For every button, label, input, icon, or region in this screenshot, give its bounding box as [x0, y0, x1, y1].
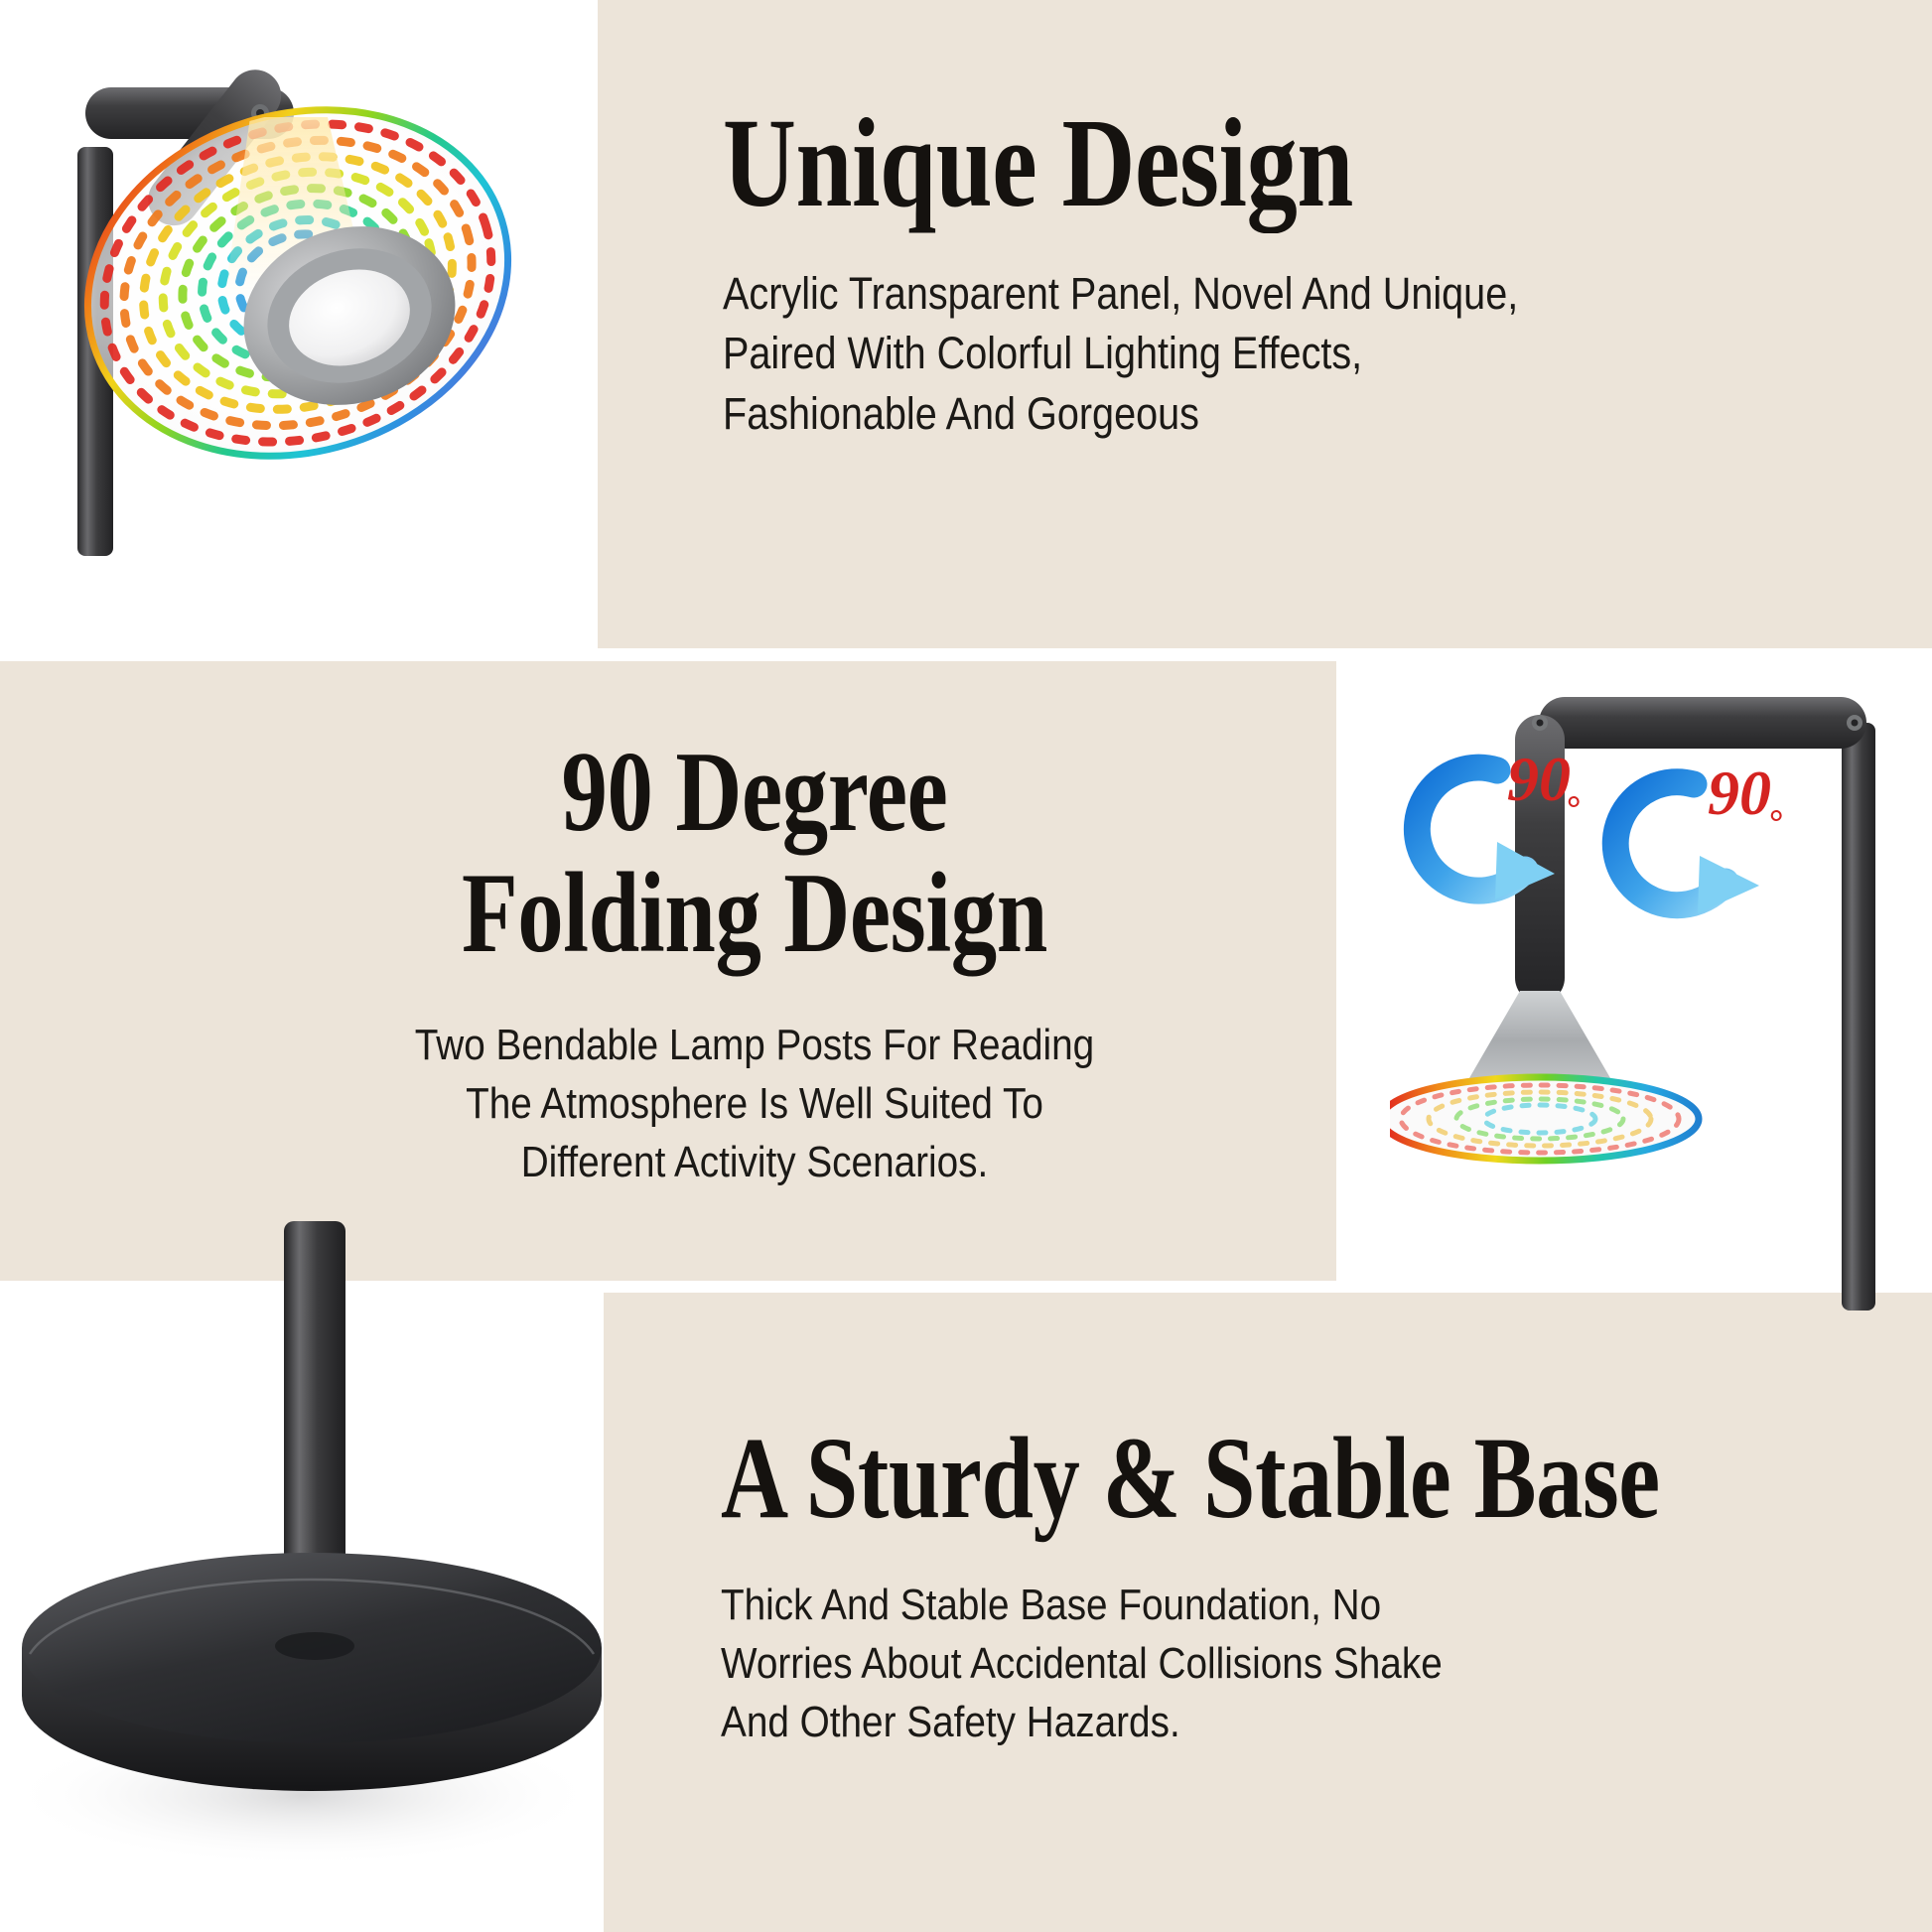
stable-base-body: Thick And Stable Base Foundation, No Wor… — [721, 1577, 1760, 1752]
rgb-base-disc — [1390, 1077, 1699, 1161]
folding-design-text-block: 90 Degree Folding Design Two Bendable La… — [328, 735, 1181, 1192]
folding-design-heading-line-2: Folding Design — [413, 856, 1096, 971]
unique-design-body: Acrylic Transparent Panel, Novel And Uni… — [723, 264, 1753, 444]
folding-diagram-image: 90 ° 90 ° — [1390, 675, 1932, 1311]
body-line: Paired With Colorful Lighting Effects, — [723, 328, 1362, 378]
folding-design-heading-line-1: 90 Degree — [413, 735, 1096, 850]
body-line: Thick And Stable Base Foundation, No — [721, 1581, 1381, 1629]
infographic-canvas: Unique Design Acrylic Transparent Panel,… — [0, 0, 1932, 1932]
right-pole — [1842, 723, 1875, 1311]
unique-design-text-block: Unique Design Acrylic Transparent Panel,… — [723, 99, 1894, 444]
stable-base-heading: A Sturdy & Stable Base — [721, 1420, 1666, 1537]
body-line: Different Activity Scenarios. — [521, 1138, 989, 1186]
body-line: And Other Safety Hazards. — [721, 1698, 1180, 1746]
stable-base-text-block: A Sturdy & Stable Base Thick And Stable … — [721, 1420, 1902, 1752]
body-line: The Atmosphere Is Well Suited To — [466, 1079, 1043, 1128]
body-line: Worries About Accidental Collisions Shak… — [721, 1639, 1443, 1688]
unique-design-heading: Unique Design — [723, 99, 1660, 226]
lamp-base-image — [0, 1221, 616, 1932]
rotation-left-unit: ° — [1567, 788, 1581, 828]
body-line: Fashionable And Gorgeous — [723, 388, 1199, 439]
body-line: Acrylic Transparent Panel, Novel And Uni… — [723, 268, 1518, 319]
lamp-head-image — [0, 0, 616, 556]
rotation-right-value: 90 — [1708, 758, 1771, 828]
rotation-right-unit: ° — [1769, 802, 1783, 842]
top-arm — [1539, 697, 1866, 749]
body-line: Two Bendable Lamp Posts For Reading — [415, 1021, 1094, 1069]
folding-design-body: Two Bendable Lamp Posts For Reading The … — [379, 1017, 1131, 1192]
rotation-left-value: 90 — [1507, 744, 1571, 814]
